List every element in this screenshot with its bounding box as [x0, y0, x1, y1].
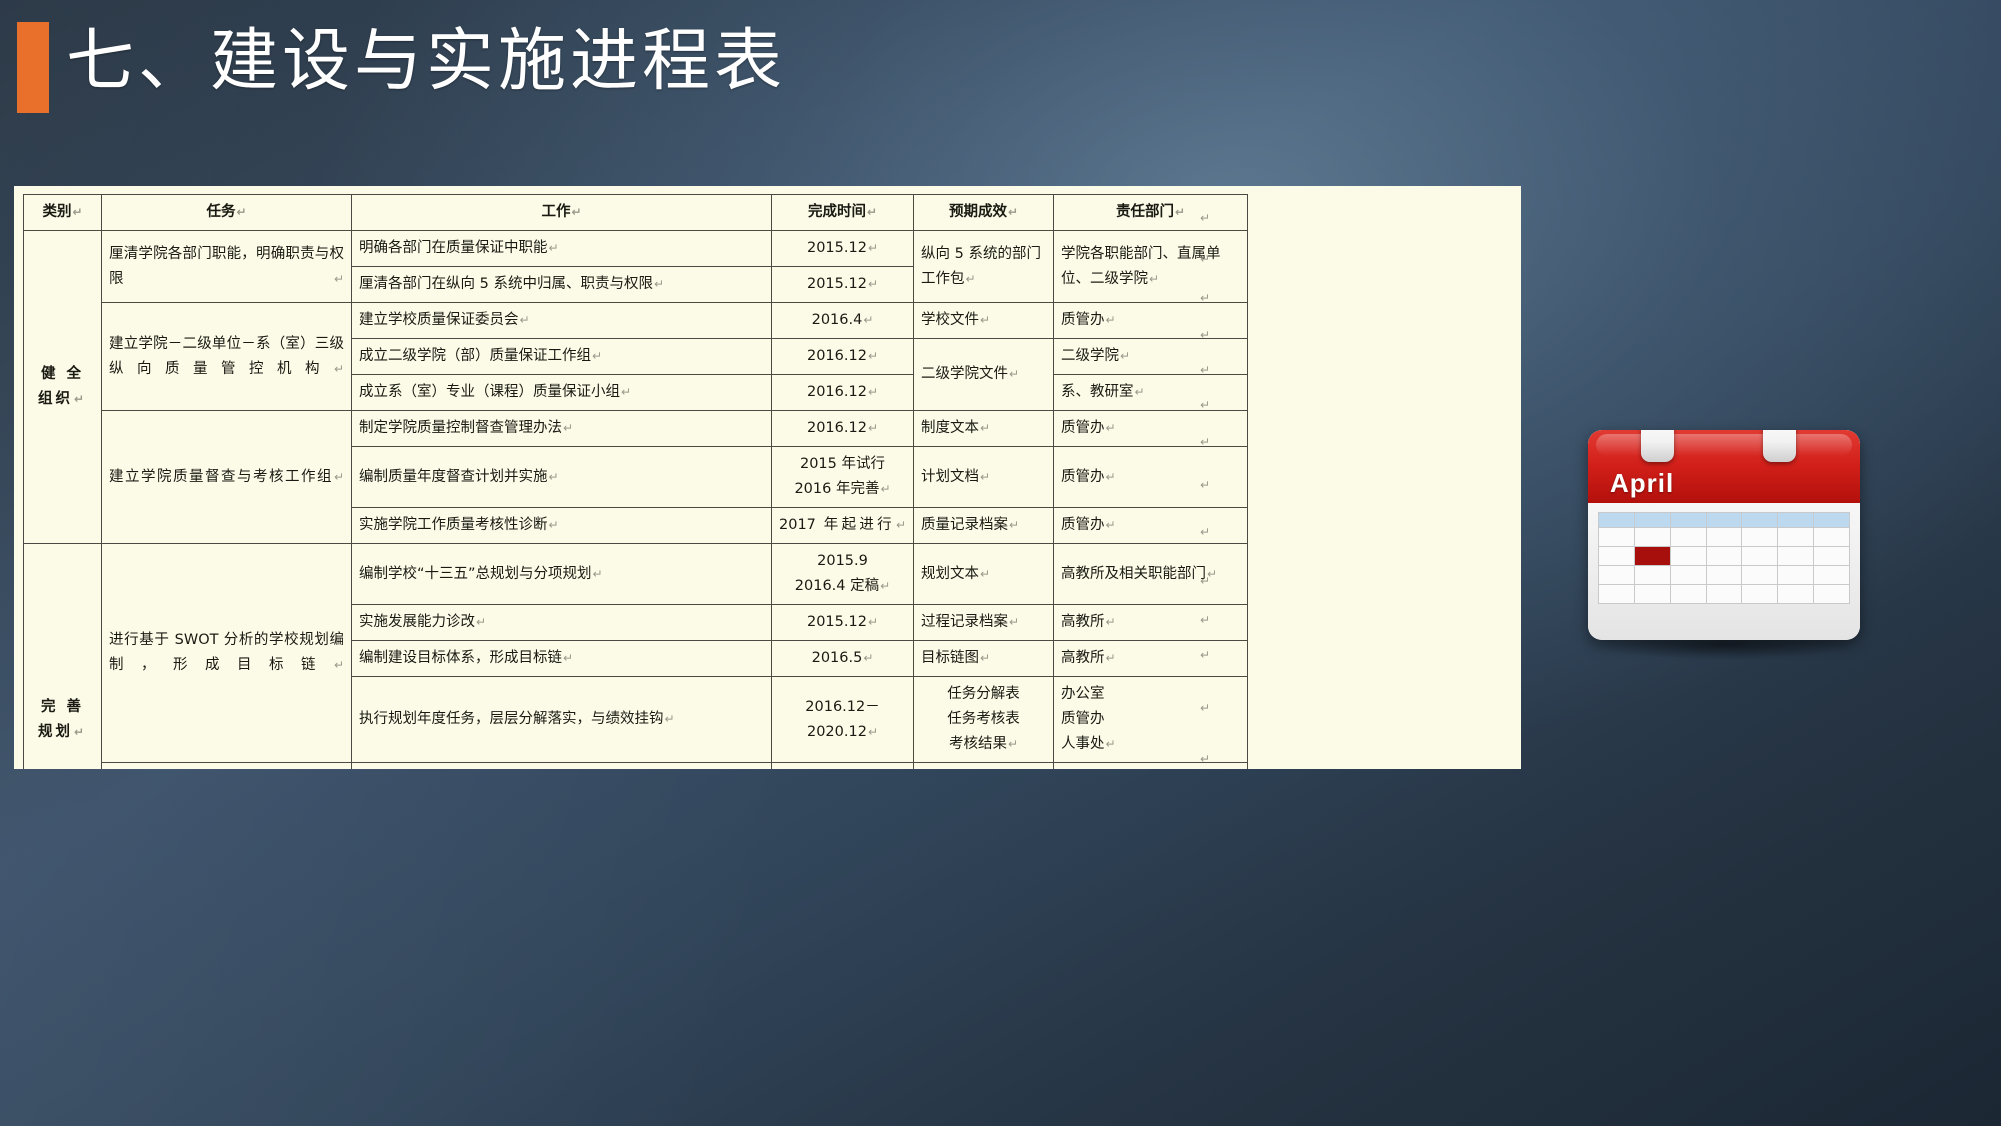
- calendar-day-cell: [1670, 585, 1706, 604]
- effect-cell: 目标链图↵: [914, 641, 1054, 677]
- work-cell: 编制学校“十三五”总规划与分项规划↵: [352, 544, 772, 605]
- work-cell: 厘清各部门在纵向 5 系统中归属、职责与权限↵: [352, 267, 772, 303]
- task-cell: 厘清学院各部门职能，明确职责与权限↵: [102, 231, 352, 303]
- calendar-day-cell: [1634, 566, 1670, 585]
- effect-cell: 学校文件↵: [914, 303, 1054, 339]
- category-cell: 完 善 规划↵: [24, 544, 102, 770]
- effect-cell: 计划文档↵: [914, 447, 1054, 508]
- calendar-weekday-cell: [1599, 513, 1635, 528]
- calendar-month-label: April: [1610, 468, 1674, 499]
- calendar-day-cell: [1742, 547, 1778, 566]
- time-cell: 2015.12↵: [772, 605, 914, 641]
- calendar-marked-day-cell: [1634, 547, 1670, 566]
- schedule-table: 类别↵ 任务↵ 工作↵ 完成时间↵ 预期成效↵ 责任部门↵ 健 全 组织↵ 厘清…: [23, 194, 1248, 769]
- work-cell: 执行规划年度任务，层层分解落实，与绩效挂钩↵: [352, 677, 772, 763]
- work-cell: 明确各部门在质量保证中职能↵: [352, 231, 772, 267]
- table-row: 健 全 组织↵ 厘清学院各部门职能，明确职责与权限↵ 明确各部门在质量保证中职能…: [24, 231, 1248, 267]
- table-header-row: 类别↵ 任务↵ 工作↵ 完成时间↵ 预期成效↵ 责任部门↵: [24, 195, 1248, 231]
- work-cell: 成立系（室）专业（课程）质量保证小组↵: [352, 375, 772, 411]
- calendar-sheet: [1588, 503, 1860, 640]
- col-header-task: 任务↵: [102, 195, 352, 231]
- task-cell: 建立学院－二级单位－系（室）三级纵向质量管控机构↵: [102, 303, 352, 411]
- calendar-day-cell: [1599, 528, 1635, 547]
- calendar-weekday-cell: [1814, 513, 1850, 528]
- time-cell: 2015.12↵: [772, 267, 914, 303]
- calendar-day-cell: [1742, 528, 1778, 547]
- table-row: 完 善 规划↵ 进行基于 SWOT 分析的学校规划编制，形成目标链↵ 编制学校“…: [24, 544, 1248, 605]
- time-cell: 2016.12－2020.12↵: [772, 677, 914, 763]
- calendar-ring-right-icon: [1763, 430, 1796, 462]
- calendar-day-cell: [1814, 566, 1850, 585]
- task-cell: 进行基于 SWOT 分析的学校规划编制，形成目标链↵: [102, 544, 352, 763]
- category-cell: 健 全 组织↵: [24, 231, 102, 544]
- calendar-day-cell: [1814, 528, 1850, 547]
- time-cell: 2015.12↵: [772, 231, 914, 267]
- work-cell: 成立二级学院（部）质量保证工作组↵: [352, 339, 772, 375]
- effect-cell: 管理系统↵: [914, 763, 1054, 770]
- calendar-day-cell: [1706, 585, 1742, 604]
- schedule-table-container: 类别↵ 任务↵ 工作↵ 完成时间↵ 预期成效↵ 责任部门↵ 健 全 组织↵ 厘清…: [14, 186, 1521, 769]
- calendar-day-cell: [1814, 585, 1850, 604]
- time-cell: 2015 年试行 2016 年完善↵: [772, 447, 914, 508]
- task-cell: 建立学院质量督查与考核工作组↵: [102, 411, 352, 544]
- table-row: 建立学院质量督查与考核工作组↵ 制定学院质量控制督查管理办法↵ 2016.12↵…: [24, 411, 1248, 447]
- calendar-day-cell: [1742, 566, 1778, 585]
- calendar-day-cell: [1706, 528, 1742, 547]
- work-cell: 实施发展能力诊改↵: [352, 605, 772, 641]
- col-header-time: 完成时间↵: [772, 195, 914, 231]
- calendar-day-cell: [1670, 528, 1706, 547]
- calendar-icon: April: [1588, 430, 1860, 661]
- calendar-day-cell: [1742, 585, 1778, 604]
- calendar-weekday-cell: [1634, 513, 1670, 528]
- time-cell: 2015.9 2016.4 定稿↵: [772, 544, 914, 605]
- effect-cell: 质量记录档案↵: [914, 508, 1054, 544]
- work-cell: 编制质量年度督查计划并实施↵: [352, 447, 772, 508]
- work-cell: 编制建设目标体系，形成目标链↵: [352, 641, 772, 677]
- time-cell: 2017.12↵: [772, 763, 914, 770]
- time-cell: 2016.12↵: [772, 411, 914, 447]
- calendar-weekday-row: [1599, 513, 1850, 528]
- slide-canvas: 七、建设与实施进程表 类别↵ 任务↵ 工作↵ 完成时间↵ 预期成效↵ 责任部门↵: [0, 0, 2001, 1126]
- calendar-day-cell: [1599, 585, 1635, 604]
- col-header-work: 工作↵: [352, 195, 772, 231]
- title-accent-bar: [17, 22, 49, 113]
- margin-paragraph-marks: ↵↵ ↵↵ ↵↵ ↵↵ ↵↵ ↵↵ ↵↵ ↵↵: [1200, 194, 1226, 769]
- effect-cell: 过程记录档案↵: [914, 605, 1054, 641]
- calendar-day-cell: [1778, 547, 1814, 566]
- calendar-weekday-cell: [1706, 513, 1742, 528]
- table-row: 建立大数据分析机制，不断修正目标链，确保完成质量↵ 建设信息化的绩效考核管理系统…: [24, 763, 1248, 770]
- calendar-day-cell: [1778, 566, 1814, 585]
- calendar-day-cell: [1634, 528, 1670, 547]
- effect-cell: 纵向 5 系统的部门工作包↵: [914, 231, 1054, 303]
- page-title: 七、建设与实施进程表: [66, 14, 786, 110]
- calendar-day-cell: [1706, 547, 1742, 566]
- calendar-week-row: [1599, 547, 1850, 566]
- effect-cell: 制度文本↵: [914, 411, 1054, 447]
- work-cell: 建设信息化的绩效考核管理系统↵: [352, 763, 772, 770]
- table-row: 建立学院－二级单位－系（室）三级纵向质量管控机构↵ 建立学校质量保证委员会↵ 2…: [24, 303, 1248, 339]
- col-header-effect: 预期成效↵: [914, 195, 1054, 231]
- task-cell: 建立大数据分析机制，不断修正目标链，确保完成质量↵: [102, 763, 352, 770]
- calendar-body: April: [1588, 430, 1860, 640]
- effect-cell: 规划文本↵: [914, 544, 1054, 605]
- work-cell: 建立学校质量保证委员会↵: [352, 303, 772, 339]
- calendar-day-cell: [1670, 566, 1706, 585]
- calendar-day-cell: [1670, 547, 1706, 566]
- time-cell: 2016.12↵: [772, 375, 914, 411]
- col-header-category: 类别↵: [24, 195, 102, 231]
- work-cell: 制定学院质量控制督查管理办法↵: [352, 411, 772, 447]
- calendar-day-cell: [1599, 547, 1635, 566]
- calendar-weekday-cell: [1778, 513, 1814, 528]
- calendar-day-cell: [1599, 566, 1635, 585]
- calendar-ring-left-icon: [1641, 430, 1674, 462]
- calendar-day-cell: [1778, 585, 1814, 604]
- calendar-weekday-cell: [1742, 513, 1778, 528]
- time-cell: 2016.12↵: [772, 339, 914, 375]
- calendar-week-row: [1599, 585, 1850, 604]
- effect-cell: 二级学院文件↵: [914, 339, 1054, 411]
- calendar-day-cell: [1814, 547, 1850, 566]
- calendar-day-cell: [1778, 528, 1814, 547]
- work-cell: 实施学院工作质量考核性诊断↵: [352, 508, 772, 544]
- calendar-grid: [1598, 512, 1850, 604]
- calendar-week-row: [1599, 566, 1850, 585]
- time-cell: 2016.4↵: [772, 303, 914, 339]
- effect-cell: 任务分解表 任务考核表 考核结果↵: [914, 677, 1054, 763]
- calendar-week-row: [1599, 528, 1850, 547]
- time-cell: 2017 年起进行↵: [772, 508, 914, 544]
- calendar-day-cell: [1706, 566, 1742, 585]
- calendar-day-cell: [1634, 585, 1670, 604]
- time-cell: 2016.5↵: [772, 641, 914, 677]
- calendar-weekday-cell: [1670, 513, 1706, 528]
